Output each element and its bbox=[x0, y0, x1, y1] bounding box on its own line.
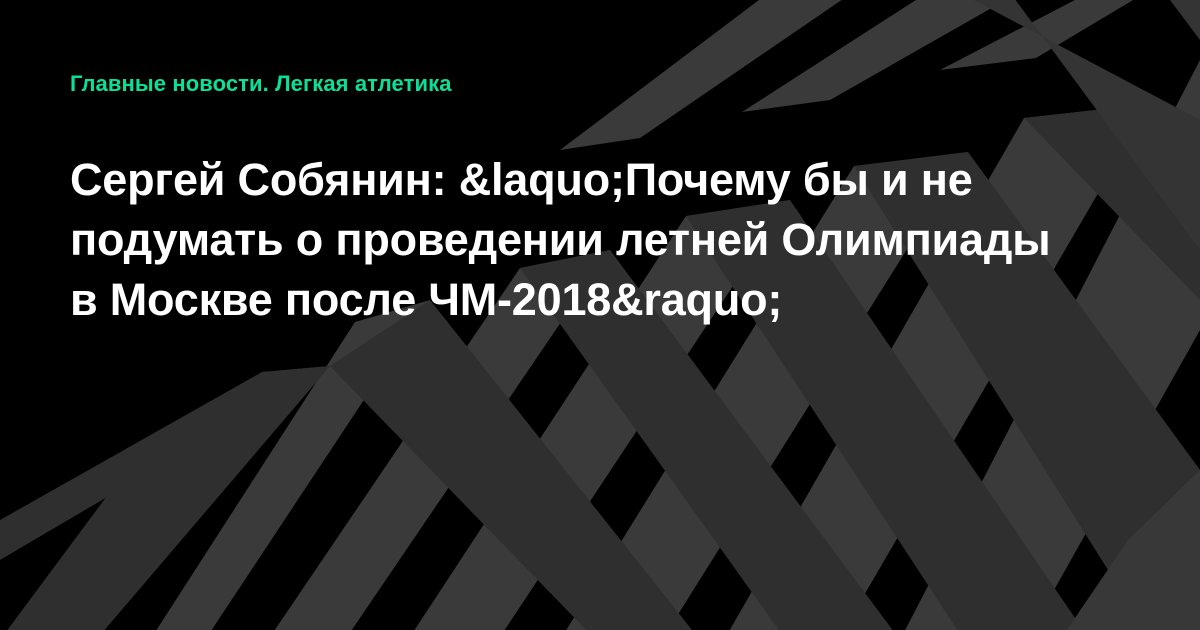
headline-title: Сергей Собянин: &laquo;Почему бы и не по… bbox=[70, 98, 1070, 330]
card-content: Главные новости. Легкая атлетика Сергей … bbox=[0, 0, 1200, 630]
news-share-card: Главные новости. Легкая атлетика Сергей … bbox=[0, 0, 1200, 630]
category-kicker: Главные новости. Легкая атлетика bbox=[70, 70, 1130, 98]
